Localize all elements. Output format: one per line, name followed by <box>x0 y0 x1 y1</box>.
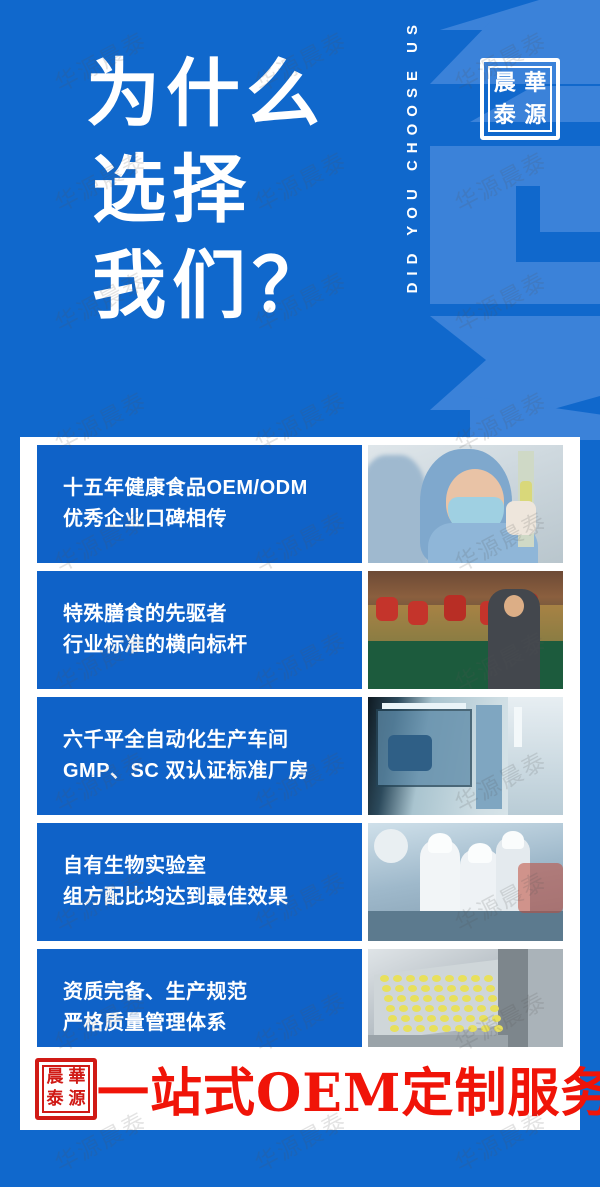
feature-card: 特殊膳食的先驱者 行业标准的横向标杆 <box>37 571 563 689</box>
tablet-dot <box>488 995 497 1002</box>
poster-root: 为什么 选择 我们？ DID YOU CHOOSE US 華 源 晨 泰 十五年… <box>0 0 600 1187</box>
page-title: 为什么 选择 我们？ <box>86 46 386 334</box>
tablet-dot <box>481 1025 490 1032</box>
banner-seal-char-1: 華 <box>66 1067 88 1089</box>
feature-line-2: 严格质量管理体系 <box>63 1008 362 1039</box>
tablet-dot <box>434 985 443 992</box>
title-line-3: 我们？ <box>86 238 386 334</box>
tablet-dot <box>440 1015 449 1022</box>
tablet-dot <box>471 975 480 982</box>
tablet-dot <box>416 1025 425 1032</box>
tablet-dot <box>397 995 406 1002</box>
tablet-dot <box>390 1025 399 1032</box>
feature-card-text: 特殊膳食的先驱者 行业标准的横向标杆 <box>37 571 362 689</box>
tablet-dot <box>490 1005 499 1012</box>
tablet-dot <box>484 975 493 982</box>
tablet-dot <box>462 995 471 1002</box>
tablet-dot <box>429 1025 438 1032</box>
cta-banner-text: 一站式OEM定制服务 <box>97 1051 600 1126</box>
tablet-dot <box>464 1005 473 1012</box>
banner-seal-char-4: 泰 <box>44 1089 66 1111</box>
tablet-dot <box>384 995 393 1002</box>
banner-seal-icon: 華 源 晨 泰 <box>35 1058 97 1120</box>
brand-seal-icon: 華 源 晨 泰 <box>480 58 560 140</box>
header-section: 为什么 选择 我们？ DID YOU CHOOSE US 華 源 晨 泰 <box>0 0 600 437</box>
tablet-dot <box>382 985 391 992</box>
feature-line-1: 特殊膳食的先驱者 <box>63 599 362 630</box>
tablet-dot <box>380 975 389 982</box>
title-line-2: 选择 <box>86 142 386 238</box>
tablet-dot <box>412 1005 421 1012</box>
seal-char-3: 晨 <box>490 68 520 99</box>
tablet-dot <box>423 995 432 1002</box>
feature-photo-packaging-workers <box>368 823 563 941</box>
tablet-dot <box>393 975 402 982</box>
feature-photo-lab-technician <box>368 445 563 563</box>
tablet-dot <box>399 1005 408 1012</box>
tablet-dot <box>432 975 441 982</box>
tablet-dot <box>455 1025 464 1032</box>
tablet-dot <box>436 995 445 1002</box>
tablet-dot <box>421 985 430 992</box>
tablet-dot <box>473 985 482 992</box>
feature-card: 十五年健康食品OEM/ODM 优秀企业口碑相传 <box>37 445 563 563</box>
feature-line-2: 组方配比均达到最佳效果 <box>63 882 362 913</box>
tablet-dot <box>414 1015 423 1022</box>
cta-banner: 華 源 晨 泰 一站式OEM定制服务 <box>20 1047 580 1130</box>
seal-char-2: 源 <box>521 100 551 131</box>
tablet-dot <box>445 975 454 982</box>
tablet-dot <box>486 985 495 992</box>
feature-line-2: 优秀企业口碑相传 <box>63 504 362 535</box>
tablet-dot <box>419 975 428 982</box>
tablet-dot <box>460 985 469 992</box>
feature-card: 六千平全自动化生产车间 GMP、SC 双认证标准厂房 <box>37 697 563 815</box>
tablet-dot <box>449 995 458 1002</box>
feature-photo-conference-hall <box>368 571 563 689</box>
tablet-dot <box>451 1005 460 1012</box>
tablet-dot <box>427 1015 436 1022</box>
tablet-dot <box>466 1015 475 1022</box>
feature-card-list: 十五年健康食品OEM/ODM 优秀企业口碑相传 特殊膳食的先驱者 行业标准的横向… <box>37 445 563 1075</box>
vertical-english-tagline: DID YOU CHOOSE US <box>404 18 421 408</box>
tablet-dot <box>453 1015 462 1022</box>
tablet-dot <box>401 1015 410 1022</box>
feature-card-text: 十五年健康食品OEM/ODM 优秀企业口碑相传 <box>37 445 362 563</box>
tablet-dot <box>447 985 456 992</box>
feature-line-2: 行业标准的横向标杆 <box>63 630 362 661</box>
feature-line-1: 十五年健康食品OEM/ODM <box>63 473 362 504</box>
tablet-dot <box>386 1005 395 1012</box>
tablet-dot <box>388 1015 397 1022</box>
features-frame: 十五年健康食品OEM/ODM 优秀企业口碑相传 特殊膳食的先驱者 行业标准的横向… <box>20 437 580 1130</box>
tablet-dot <box>425 1005 434 1012</box>
footer-strip <box>0 1130 600 1187</box>
tablet-dot <box>475 995 484 1002</box>
tablet-dot <box>442 1025 451 1032</box>
seal-char-1: 華 <box>521 68 551 99</box>
banner-seal-char-3: 晨 <box>44 1067 66 1089</box>
feature-card-text: 自有生物实验室 组方配比均达到最佳效果 <box>37 823 362 941</box>
tablet-dot <box>468 1025 477 1032</box>
tablet-dot <box>408 985 417 992</box>
tablet-dot <box>410 995 419 1002</box>
tablet-dot <box>479 1015 488 1022</box>
tablet-dot <box>403 1025 412 1032</box>
tablet-dot <box>406 975 415 982</box>
tablet-dot <box>492 1015 501 1022</box>
feature-line-2: GMP、SC 双认证标准厂房 <box>63 756 362 787</box>
feature-card: 自有生物实验室 组方配比均达到最佳效果 <box>37 823 563 941</box>
feature-line-1: 资质完备、生产规范 <box>63 977 362 1008</box>
feature-card-text: 六千平全自动化生产车间 GMP、SC 双认证标准厂房 <box>37 697 362 815</box>
feature-line-1: 六千平全自动化生产车间 <box>63 725 362 756</box>
title-line-1: 为什么 <box>86 46 386 142</box>
tablet-dot <box>458 975 467 982</box>
banner-seal-char-2: 源 <box>66 1089 88 1111</box>
seal-char-4: 泰 <box>490 100 520 131</box>
tablet-dot <box>438 1005 447 1012</box>
tablet-dot <box>477 1005 486 1012</box>
vertical-english-text: DID YOU CHOOSE US <box>404 18 421 293</box>
tablet-dot <box>494 1025 503 1032</box>
feature-photo-clean-room <box>368 697 563 815</box>
tablet-dot <box>395 985 404 992</box>
feature-line-1: 自有生物实验室 <box>63 851 362 882</box>
